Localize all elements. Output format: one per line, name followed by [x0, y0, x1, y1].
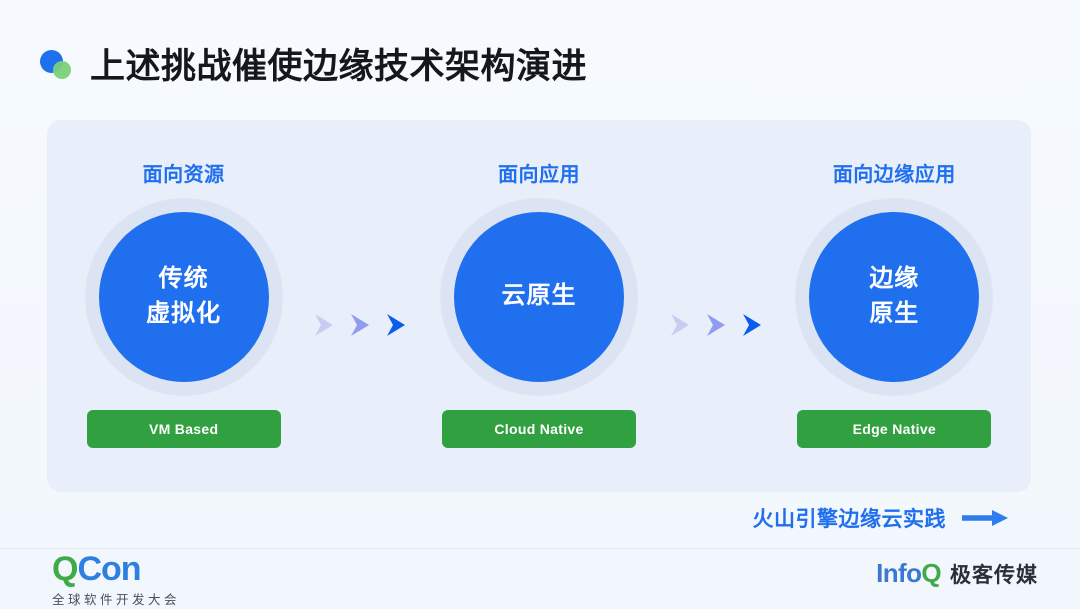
arrow-right-icon: [962, 508, 1008, 528]
slide-canvas: 上述挑战催使边缘技术架构演进 面向资源 传统 虚拟化 VM Based: [0, 0, 1080, 609]
qcon-mark-q: Q: [52, 550, 77, 588]
stage-circle: 云原生: [454, 212, 624, 382]
infoq-wordmark: InfoQ: [876, 560, 941, 586]
stage-circle-wrapper: 传统 虚拟化: [84, 209, 284, 384]
stage-columns: 面向资源 传统 虚拟化 VM Based: [47, 120, 1031, 492]
triple-chevron-right-icon: [662, 305, 772, 345]
stage-circle-line-1: 边缘: [869, 262, 919, 296]
stage-circle: 边缘 原生: [809, 212, 979, 382]
stage-tag: Edge Native: [797, 410, 991, 448]
qcon-wordmark: QCon: [52, 552, 220, 586]
bullet-green-circle: [53, 61, 71, 79]
stage-circle-wrapper: 边缘 原生: [794, 209, 994, 384]
triple-chevron-right-icon: [306, 305, 416, 345]
qcon-subtitle: 全球软件开发大会: [52, 589, 220, 608]
infoq-logo: InfoQ 极客传媒: [876, 560, 1038, 586]
evolution-panel: 面向资源 传统 虚拟化 VM Based: [47, 120, 1031, 492]
stage-circle-line-2: 原生: [869, 297, 919, 331]
stage-tag: VM Based: [87, 410, 281, 448]
page-title: 上述挑战催使边缘技术架构演进: [90, 49, 587, 84]
stage-column-edge: 面向边缘应用 边缘 原生 Edge Native: [772, 120, 1017, 448]
stage-tag: Cloud Native: [442, 410, 636, 448]
stage-circle-line-1: 传统: [159, 262, 209, 296]
slide-header: 上述挑战催使边缘技术架构演进: [38, 40, 587, 92]
stage-heading: 面向应用: [498, 158, 580, 187]
footer-divider: [0, 548, 1080, 549]
qcon-mark-con: Con: [77, 550, 140, 588]
stage-circle-line-1: 云原生: [501, 279, 576, 313]
stage-heading: 面向边缘应用: [833, 158, 956, 187]
infoq-publisher: 极客传媒: [950, 565, 1038, 586]
qcon-logo: QCon 全球软件开发大会: [52, 552, 220, 600]
stage-column-resource: 面向资源 传统 虚拟化 VM Based: [61, 120, 306, 448]
infoq-mark-q: Q: [921, 558, 941, 588]
infoq-mark-info: Info: [876, 558, 921, 588]
cta-next-section: 火山引擎边缘云实践: [753, 503, 1009, 533]
stage-circle-line-2: 虚拟化: [146, 297, 221, 331]
stage-circle-wrapper: 云原生: [439, 209, 639, 384]
stage-circle: 传统 虚拟化: [99, 212, 269, 382]
stage-heading: 面向资源: [143, 158, 225, 187]
stage-column-application: 面向应用 云原生 Cloud Native: [416, 120, 661, 448]
two-circles-icon: [38, 47, 76, 85]
cta-label: 火山引擎边缘云实践: [753, 503, 947, 533]
